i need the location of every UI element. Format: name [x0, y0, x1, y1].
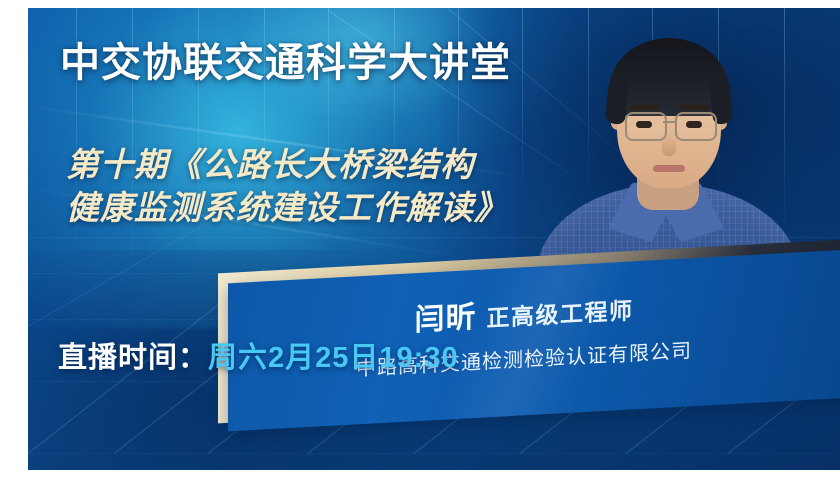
main-title: 中交协联交通科学大讲堂: [60, 30, 511, 88]
speaker-name: 闫昕: [415, 301, 477, 337]
poster-canvas: 闫昕正高级工程师 中路高科交通检测检验认证有限公司 中交协联交通科学大讲堂 第十…: [28, 8, 840, 470]
speaker-title: 正高级工程师: [487, 297, 634, 331]
subtitle-line-1: 第十期《公路长大桥梁结构: [66, 146, 474, 183]
broadcast-time-row: 直播时间：周六2月25日19:30: [58, 334, 459, 376]
portrait-glasses-left-lens: [625, 112, 667, 141]
portrait-glasses-right-lens: [675, 112, 717, 141]
subtitle: 第十期《公路长大桥梁结构 健康监测系统建设工作解读》: [66, 144, 508, 230]
portrait-nose: [662, 134, 676, 156]
broadcast-time-value: 周六2月25日19:30: [208, 342, 459, 374]
portrait-glasses-bridge: [663, 121, 675, 123]
subtitle-line-2: 健康监测系统建设工作解读》: [66, 187, 508, 230]
portrait-mouth: [653, 165, 685, 172]
broadcast-time-label: 直播时间：: [58, 342, 208, 374]
